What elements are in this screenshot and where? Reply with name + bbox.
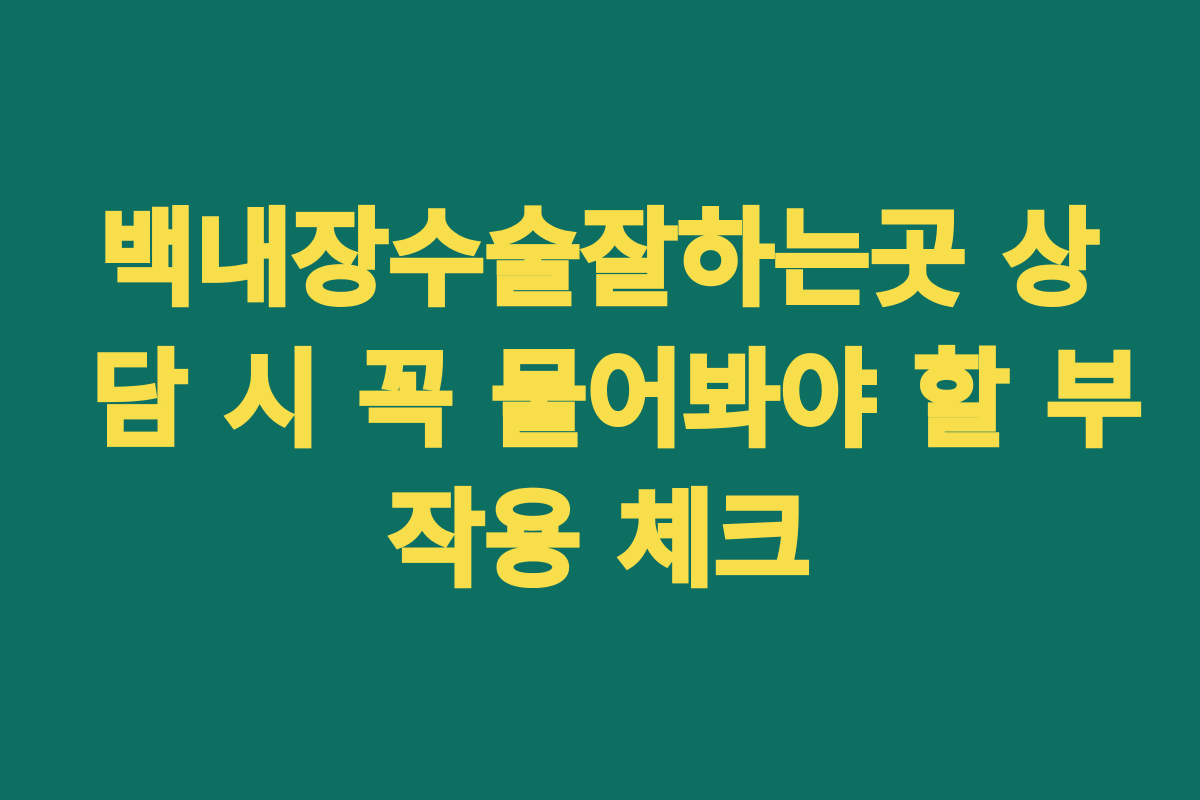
headline-line-2: 담 시 꼭 물어봐야 할 부 <box>92 330 1108 470</box>
page-title: 백내장수술잘하는곳 상 담 시 꼭 물어봐야 할 부 작용 체크 <box>0 189 1200 610</box>
headline-line-1: 백내장수술잘하는곳 상 <box>92 189 1108 329</box>
thumbnail-card: 백내장수술잘하는곳 상 담 시 꼭 물어봐야 할 부 작용 체크 <box>0 0 1200 800</box>
headline-line-3: 작용 체크 <box>92 470 1108 610</box>
